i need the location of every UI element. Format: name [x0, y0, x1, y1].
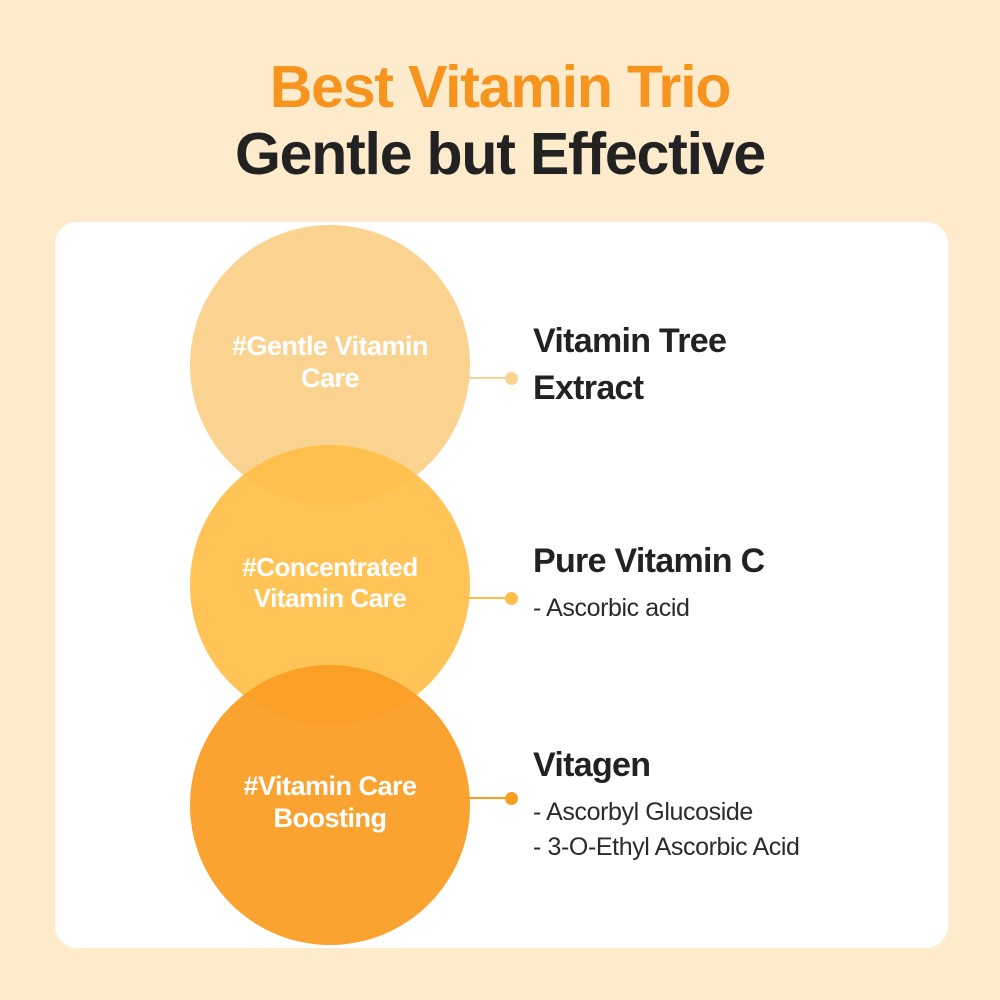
connector-leader-1	[464, 377, 506, 379]
connector-dot-1	[505, 372, 518, 385]
connector-line-2	[464, 591, 518, 605]
connector-line-1	[464, 371, 518, 385]
venn-circle-gentle-label: #Gentle Vitamin Care	[190, 331, 470, 395]
venn-circle-boosting-label: #Vitamin Care Boosting	[190, 771, 470, 835]
page-headline: Best Vitamin Trio Gentle but Effective	[0, 54, 1000, 187]
venn-circle-boosting: #Vitamin Care Boosting	[190, 665, 470, 945]
ingredient-block-1: Vitamin Tree Extract	[533, 318, 933, 417]
connector-dot-3	[505, 792, 518, 805]
headline-line-secondary: Gentle but Effective	[0, 121, 1000, 188]
venn-circle-concentrated-label: #Concentrated Vitamin Care	[190, 552, 470, 613]
ingredient-sublist-2: - Ascorbic acid	[533, 591, 933, 627]
connector-leader-3	[464, 797, 506, 799]
ingredient-title-1: Vitamin Tree Extract	[533, 318, 933, 411]
ingredient-sub-item: - Ascorbyl Glucoside	[533, 795, 933, 831]
venn-diagram: #Gentle Vitamin Care #Concentrated Vitam…	[190, 225, 470, 945]
ingredient-title-3: Vitagen	[533, 742, 933, 789]
ingredient-sublist-3: - Ascorbyl Glucoside- 3-O-Ethyl Ascorbic…	[533, 795, 933, 866]
ingredient-block-3: Vitagen - Ascorbyl Glucoside- 3-O-Ethyl …	[533, 742, 933, 866]
ingredient-sub-item: - 3-O-Ethyl Ascorbic Acid	[533, 830, 933, 866]
connector-line-3	[464, 791, 518, 805]
connector-leader-2	[464, 597, 506, 599]
ingredient-block-2: Pure Vitamin C - Ascorbic acid	[533, 538, 933, 626]
connector-dot-2	[505, 592, 518, 605]
headline-line-primary: Best Vitamin Trio	[0, 54, 1000, 121]
ingredient-title-2: Pure Vitamin C	[533, 538, 933, 585]
ingredient-sub-item: - Ascorbic acid	[533, 591, 933, 627]
